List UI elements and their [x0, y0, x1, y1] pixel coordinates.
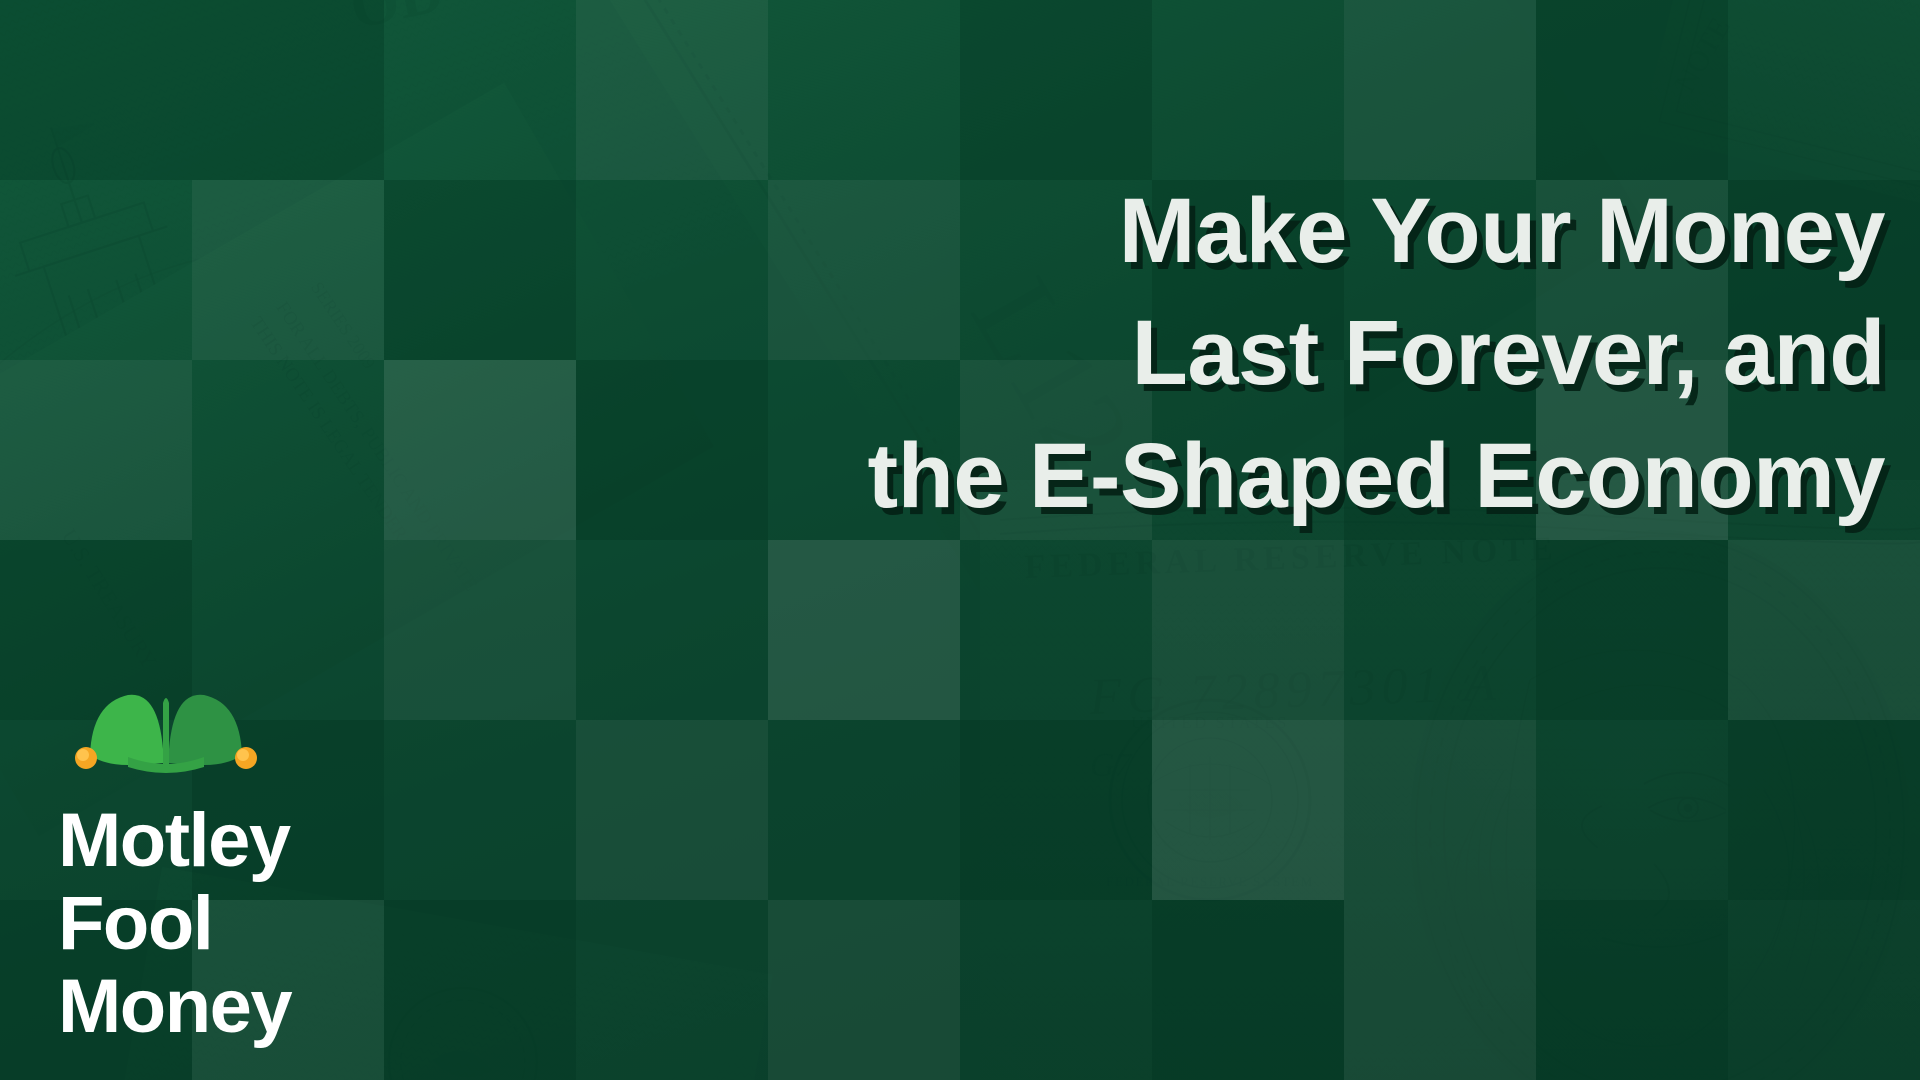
title-line-2: Last Forever, and	[600, 292, 1885, 414]
title-line-1: Make Your Money	[600, 170, 1885, 292]
logo-word-money: Money	[58, 971, 418, 1044]
jester-hat-icon	[66, 683, 266, 783]
cover-art-canvas: OD L12	[0, 0, 1920, 1080]
logo-word-motley: Motley	[58, 805, 418, 878]
logo-word-fool: Fool	[58, 888, 418, 961]
motley-fool-money-logo: Motley Fool Money	[58, 683, 418, 1044]
cover-art-content: Make Your Money Last Forever, and the E-…	[0, 0, 1920, 1080]
title-line-3: the E-Shaped Economy	[600, 415, 1885, 537]
episode-title: Make Your Money Last Forever, and the E-…	[600, 170, 1885, 537]
